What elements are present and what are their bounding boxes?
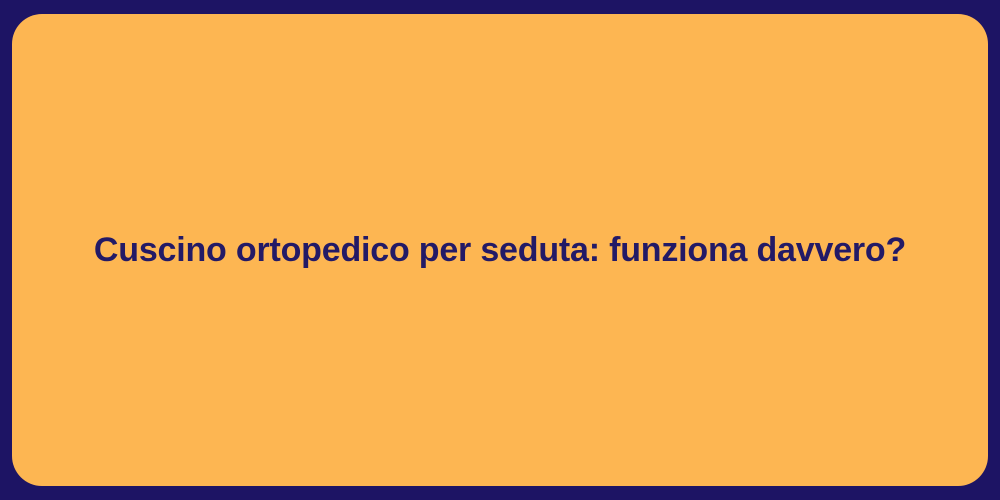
card-panel: Cuscino ortopedico per seduta: funziona …	[12, 14, 988, 486]
card-border-frame: Cuscino ortopedico per seduta: funziona …	[0, 0, 1000, 500]
page-title: Cuscino ortopedico per seduta: funziona …	[94, 229, 906, 272]
